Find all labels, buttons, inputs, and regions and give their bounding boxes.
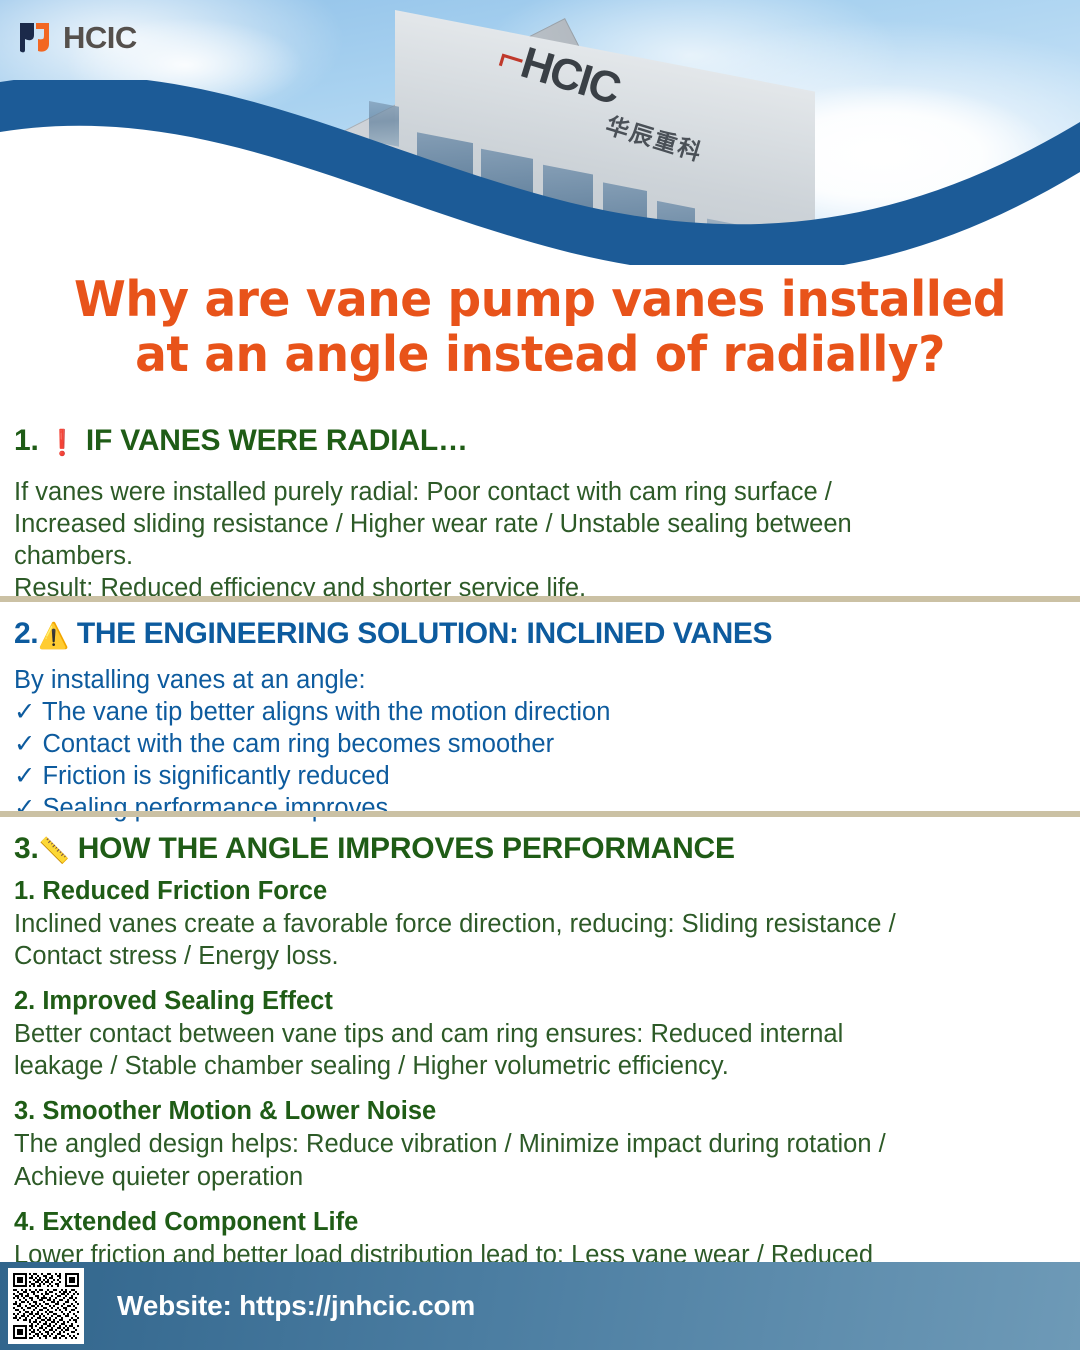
warning-triangle-icon: ⚠️ xyxy=(38,622,69,650)
section-1-number: 1. xyxy=(14,424,39,457)
section-2-bullet: ✓ Contact with the cam ring becomes smoo… xyxy=(14,728,1066,760)
website-text[interactable]: Website: https://jnhcic.com xyxy=(117,1290,475,1322)
section-3-number: 3. xyxy=(14,832,39,865)
section-3-item-line-1: The angled design helps: Reduce vibratio… xyxy=(14,1128,1066,1160)
section-2-body: By installing vanes at an angle: ✓ The v… xyxy=(14,664,1066,825)
section-2-bullet: ✓ Sealing performance improves xyxy=(14,792,1066,824)
divider-2 xyxy=(0,811,1080,817)
title-line-1: Why are vane pump vanes installed xyxy=(22,272,1059,327)
section-3-item-title: 2. Improved Sealing Effect xyxy=(14,985,1066,1018)
page-title: Why are vane pump vanes installed at an … xyxy=(22,272,1059,383)
section-3-item-line-2: Contact stress / Energy loss. xyxy=(14,940,1066,972)
section-3-heading-text: HOW THE ANGLE IMPROVES PERFORMANCE xyxy=(78,832,735,865)
ruler-icon: 📏 xyxy=(39,837,70,865)
section-3-heading: 3.📏 HOW THE ANGLE IMPROVES PERFORMANCE xyxy=(14,832,1066,866)
section-3: 3.📏 HOW THE ANGLE IMPROVES PERFORMANCE 1… xyxy=(0,832,1080,1303)
section-1-body-line-1: If vanes were installed purely radial: P… xyxy=(14,476,1066,508)
hero-banner: ⌐HCIC 华辰重科 HCIC xyxy=(0,0,1080,265)
section-1: 1. ❗ IF VANES WERE RADIAL… If vanes were… xyxy=(0,424,1080,604)
hcic-logo-mark xyxy=(16,19,54,57)
divider-1 xyxy=(0,596,1080,602)
section-3-item-line-1: Better contact between vane tips and cam… xyxy=(14,1018,1066,1050)
hcic-logo: HCIC xyxy=(16,18,137,58)
section-3-item-line-2: leakage / Stable chamber sealing / Highe… xyxy=(14,1050,1066,1082)
section-2-bullet: ✓ The vane tip better aligns with the mo… xyxy=(14,696,1066,728)
section-2: 2.⚠️ THE ENGINEERING SOLUTION: INCLINED … xyxy=(0,617,1080,824)
section-3-item-line-1: Inclined vanes create a favorable force … xyxy=(14,908,1066,940)
qr-code[interactable] xyxy=(8,1268,84,1344)
exclamation-mark-icon: ❗ xyxy=(47,429,78,457)
section-2-heading: 2.⚠️ THE ENGINEERING SOLUTION: INCLINED … xyxy=(14,617,1066,651)
section-3-item: 2. Improved Sealing Effect Better contac… xyxy=(14,985,1066,1082)
section-3-item: 1. Reduced Friction Force Inclined vanes… xyxy=(14,875,1066,972)
section-3-item-line-2: Achieve quieter operation xyxy=(14,1161,1066,1193)
section-3-item-title: 1. Reduced Friction Force xyxy=(14,875,1066,908)
section-1-heading-text: IF VANES WERE RADIAL… xyxy=(86,424,468,457)
section-2-intro: By installing vanes at an angle: xyxy=(14,664,1066,696)
blue-wave-divider xyxy=(0,80,1080,265)
footer-bar: Website: https://jnhcic.com xyxy=(0,1262,1080,1350)
section-1-body: If vanes were installed purely radial: P… xyxy=(14,476,1066,605)
section-2-bullet: ✓ Friction is significantly reduced xyxy=(14,760,1066,792)
section-2-number: 2. xyxy=(14,617,38,650)
hcic-logo-text: HCIC xyxy=(63,20,137,56)
section-1-body-line-2: Increased sliding resistance / Higher we… xyxy=(14,508,1066,540)
section-1-body-line-3: chambers. xyxy=(14,540,1066,572)
section-3-item-title: 4. Extended Component Life xyxy=(14,1206,1066,1239)
section-2-heading-text: THE ENGINEERING SOLUTION: INCLINED VANES xyxy=(77,617,772,650)
title-line-2: at an angle instead of radially? xyxy=(22,327,1059,382)
section-3-item-title: 3. Smoother Motion & Lower Noise xyxy=(14,1095,1066,1128)
section-1-heading: 1. ❗ IF VANES WERE RADIAL… xyxy=(14,424,1066,458)
section-3-item: 3. Smoother Motion & Lower Noise The ang… xyxy=(14,1095,1066,1192)
